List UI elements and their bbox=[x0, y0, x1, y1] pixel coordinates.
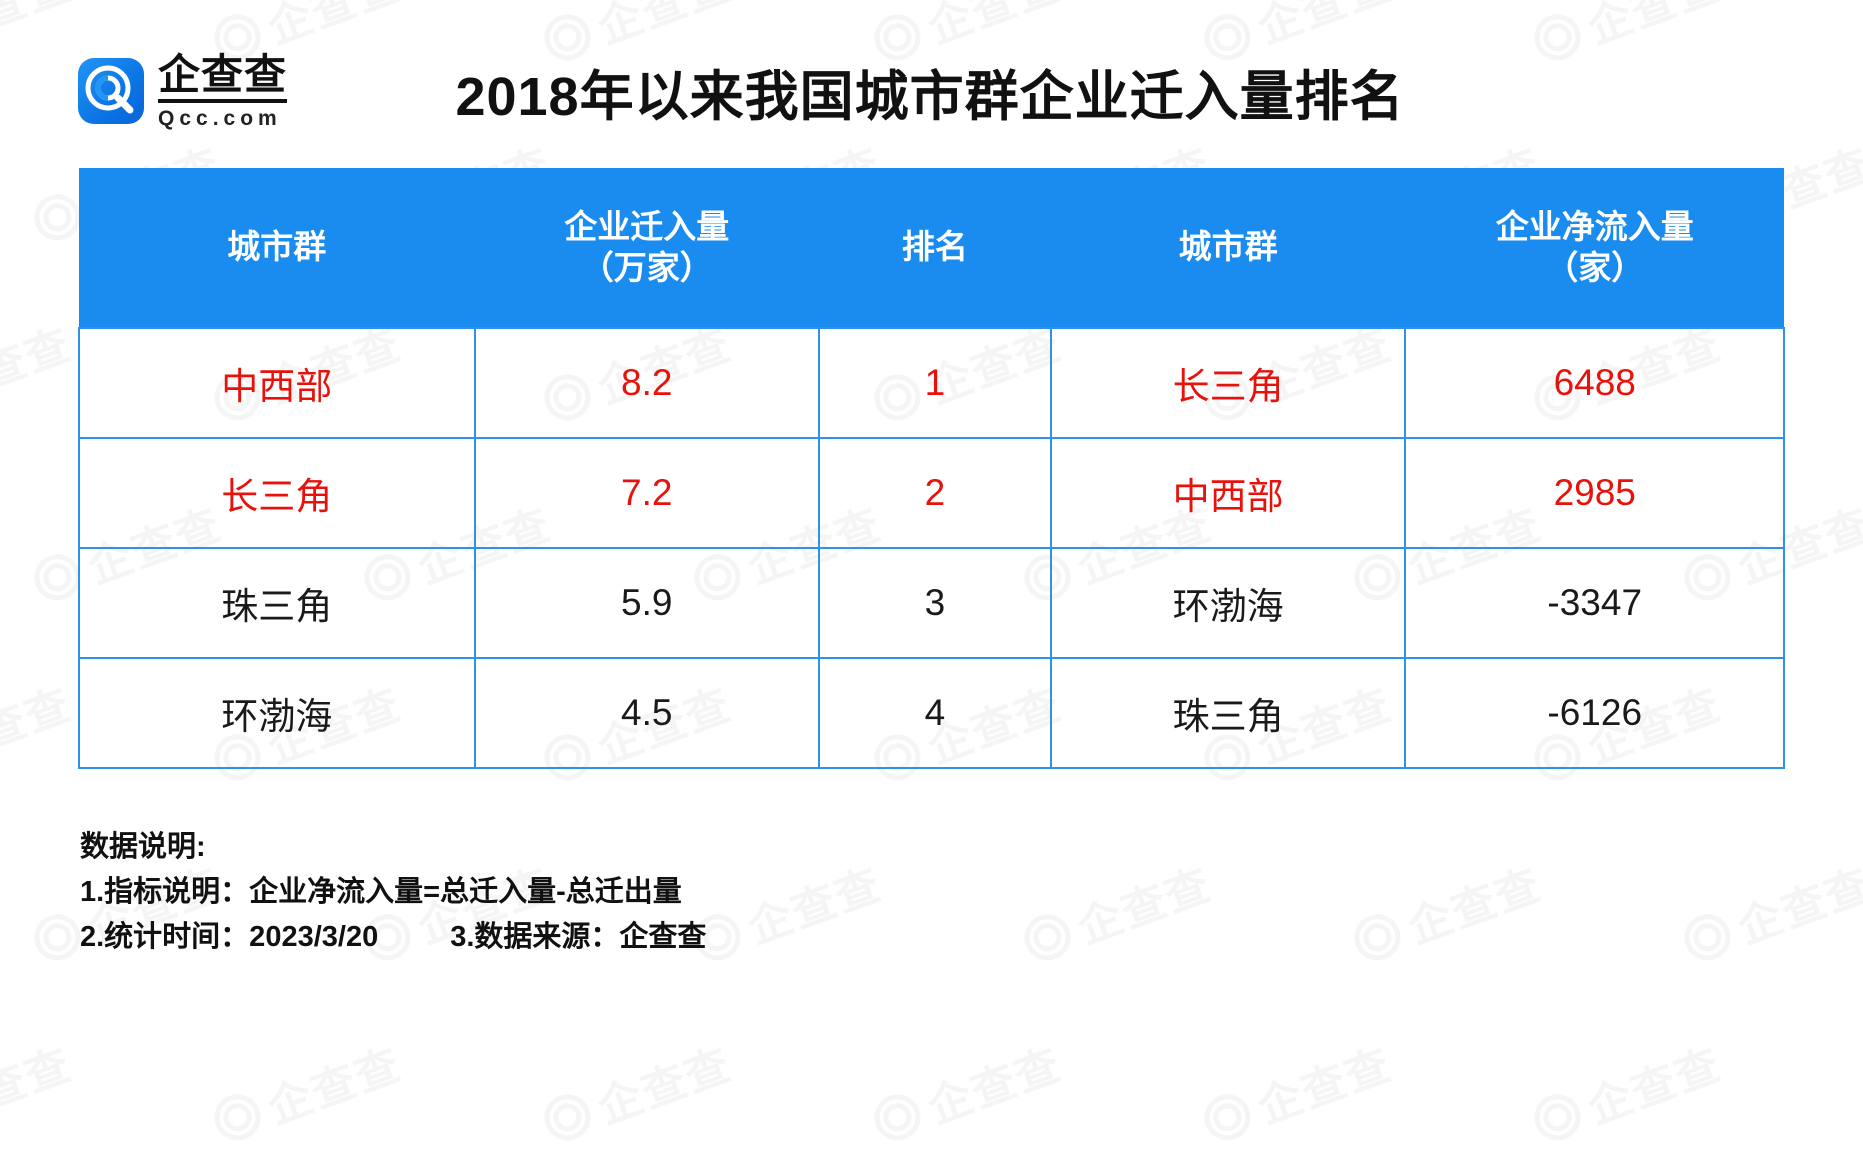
watermark-logo-icon bbox=[1198, 1088, 1257, 1147]
table-body: 中西部8.21长三角6488长三角7.22中西部2985珠三角5.93环渤海-3… bbox=[79, 328, 1784, 768]
watermark: 企查查 bbox=[0, 669, 79, 795]
infographic-page: 企查查企查查企查查企查查企查查企查查企查查企查查企查查企查查企查查企查查企查查企… bbox=[0, 0, 1863, 1151]
watermark: 企查查 bbox=[865, 1029, 1069, 1151]
note-spacer bbox=[378, 915, 450, 960]
watermark-text: 企查查 bbox=[1578, 1029, 1730, 1136]
column-header-netflow-volume: 企业净流入量 （家） bbox=[1405, 168, 1784, 328]
watermark-logo-icon bbox=[538, 1088, 597, 1147]
column-header-line2: （家） bbox=[1411, 248, 1778, 288]
table-row: 长三角7.22中西部2985 bbox=[79, 438, 1784, 548]
column-header-line1: 城市群 bbox=[85, 227, 469, 267]
watermark-text: 企查查 bbox=[258, 1029, 410, 1136]
cell-city-movein: 环渤海 bbox=[79, 658, 475, 768]
note-data-source: 3.数据来源：企查查 bbox=[450, 915, 706, 960]
watermark-text: 企查查 bbox=[0, 1029, 79, 1136]
page-title: 2018年以来我国城市群企业迁入量排名 bbox=[227, 52, 1633, 131]
watermark-text: 企查查 bbox=[918, 1029, 1070, 1136]
ranking-table-wrapper: 城市群 企业迁入量 （万家） 排名 城市群 企业净流入量 （家） bbox=[78, 168, 1785, 769]
cell-city-netflow: 珠三角 bbox=[1051, 658, 1406, 768]
watermark-text: 企查查 bbox=[0, 309, 79, 416]
watermark-text: 企查查 bbox=[1248, 1029, 1400, 1136]
cell-rank: 1 bbox=[819, 328, 1051, 438]
cell-rank: 2 bbox=[819, 438, 1051, 548]
cell-netflow-volume: -3347 bbox=[1405, 548, 1784, 658]
watermark-logo-icon bbox=[868, 1088, 927, 1147]
note-line-1: 1.指标说明：企业净流入量=总迁入量-总迁出量 bbox=[80, 870, 1863, 915]
cell-city-netflow: 中西部 bbox=[1051, 438, 1406, 548]
cell-city-netflow: 环渤海 bbox=[1051, 548, 1406, 658]
cell-movein-volume: 7.2 bbox=[475, 438, 819, 548]
watermark: 企查查 bbox=[1195, 1029, 1399, 1151]
cell-netflow-volume: -6126 bbox=[1405, 658, 1784, 768]
note-stat-time: 2.统计时间：2023/3/20 bbox=[80, 915, 378, 960]
table-head: 城市群 企业迁入量 （万家） 排名 城市群 企业净流入量 （家） bbox=[79, 168, 1784, 328]
column-header-line1: 城市群 bbox=[1057, 227, 1400, 267]
column-header-line1: 企业迁入量 bbox=[481, 207, 813, 247]
watermark-logo-icon bbox=[1528, 1088, 1587, 1147]
cell-movein-volume: 5.9 bbox=[475, 548, 819, 658]
cell-city-movein: 珠三角 bbox=[79, 548, 475, 658]
cell-city-netflow: 长三角 bbox=[1051, 328, 1406, 438]
column-header-movein-volume: 企业迁入量 （万家） bbox=[475, 168, 819, 328]
table-row: 环渤海4.54珠三角-6126 bbox=[79, 658, 1784, 768]
watermark-text: 企查查 bbox=[0, 669, 79, 776]
table-header-row: 城市群 企业迁入量 （万家） 排名 城市群 企业净流入量 （家） bbox=[79, 168, 1784, 328]
watermark-text: 企查查 bbox=[588, 1029, 740, 1136]
column-header-rank: 排名 bbox=[819, 168, 1051, 328]
column-header-line1: 企业净流入量 bbox=[1411, 207, 1778, 247]
cell-movein-volume: 4.5 bbox=[475, 658, 819, 768]
cell-netflow-volume: 6488 bbox=[1405, 328, 1784, 438]
column-header-line1: 排名 bbox=[825, 227, 1045, 267]
ranking-table: 城市群 企业迁入量 （万家） 排名 城市群 企业净流入量 （家） bbox=[78, 168, 1785, 769]
column-header-city-movein: 城市群 bbox=[79, 168, 475, 328]
page-header: 企查查 Qcc.com 2018年以来我国城市群企业迁入量排名 bbox=[0, 0, 1863, 140]
table-row: 珠三角5.93环渤海-3347 bbox=[79, 548, 1784, 658]
cell-city-movein: 长三角 bbox=[79, 438, 475, 548]
cell-rank: 3 bbox=[819, 548, 1051, 658]
qcc-logo-icon bbox=[78, 58, 144, 124]
note-indicator-text: 1.指标说明：企业净流入量=总迁入量-总迁出量 bbox=[80, 870, 682, 915]
cell-netflow-volume: 2985 bbox=[1405, 438, 1784, 548]
watermark-logo-icon bbox=[28, 908, 87, 967]
column-header-line2: （万家） bbox=[481, 248, 813, 288]
cell-rank: 4 bbox=[819, 658, 1051, 768]
table-row: 中西部8.21长三角6488 bbox=[79, 328, 1784, 438]
watermark: 企查查 bbox=[1525, 1029, 1729, 1151]
cell-city-movein: 中西部 bbox=[79, 328, 475, 438]
watermark: 企查查 bbox=[535, 1029, 739, 1151]
note-line-2: 2.统计时间：2023/3/20 3.数据来源：企查查 bbox=[80, 915, 1863, 960]
data-notes: 数据说明: 1.指标说明：企业净流入量=总迁入量-总迁出量 2.统计时间：202… bbox=[80, 825, 1863, 960]
column-header-city-netflow: 城市群 bbox=[1051, 168, 1406, 328]
notes-heading: 数据说明: bbox=[80, 825, 1863, 870]
watermark: 企查查 bbox=[205, 1029, 409, 1151]
watermark-logo-icon bbox=[208, 1088, 267, 1147]
watermark: 企查查 bbox=[0, 1029, 79, 1151]
cell-movein-volume: 8.2 bbox=[475, 328, 819, 438]
watermark: 企查查 bbox=[0, 309, 79, 435]
